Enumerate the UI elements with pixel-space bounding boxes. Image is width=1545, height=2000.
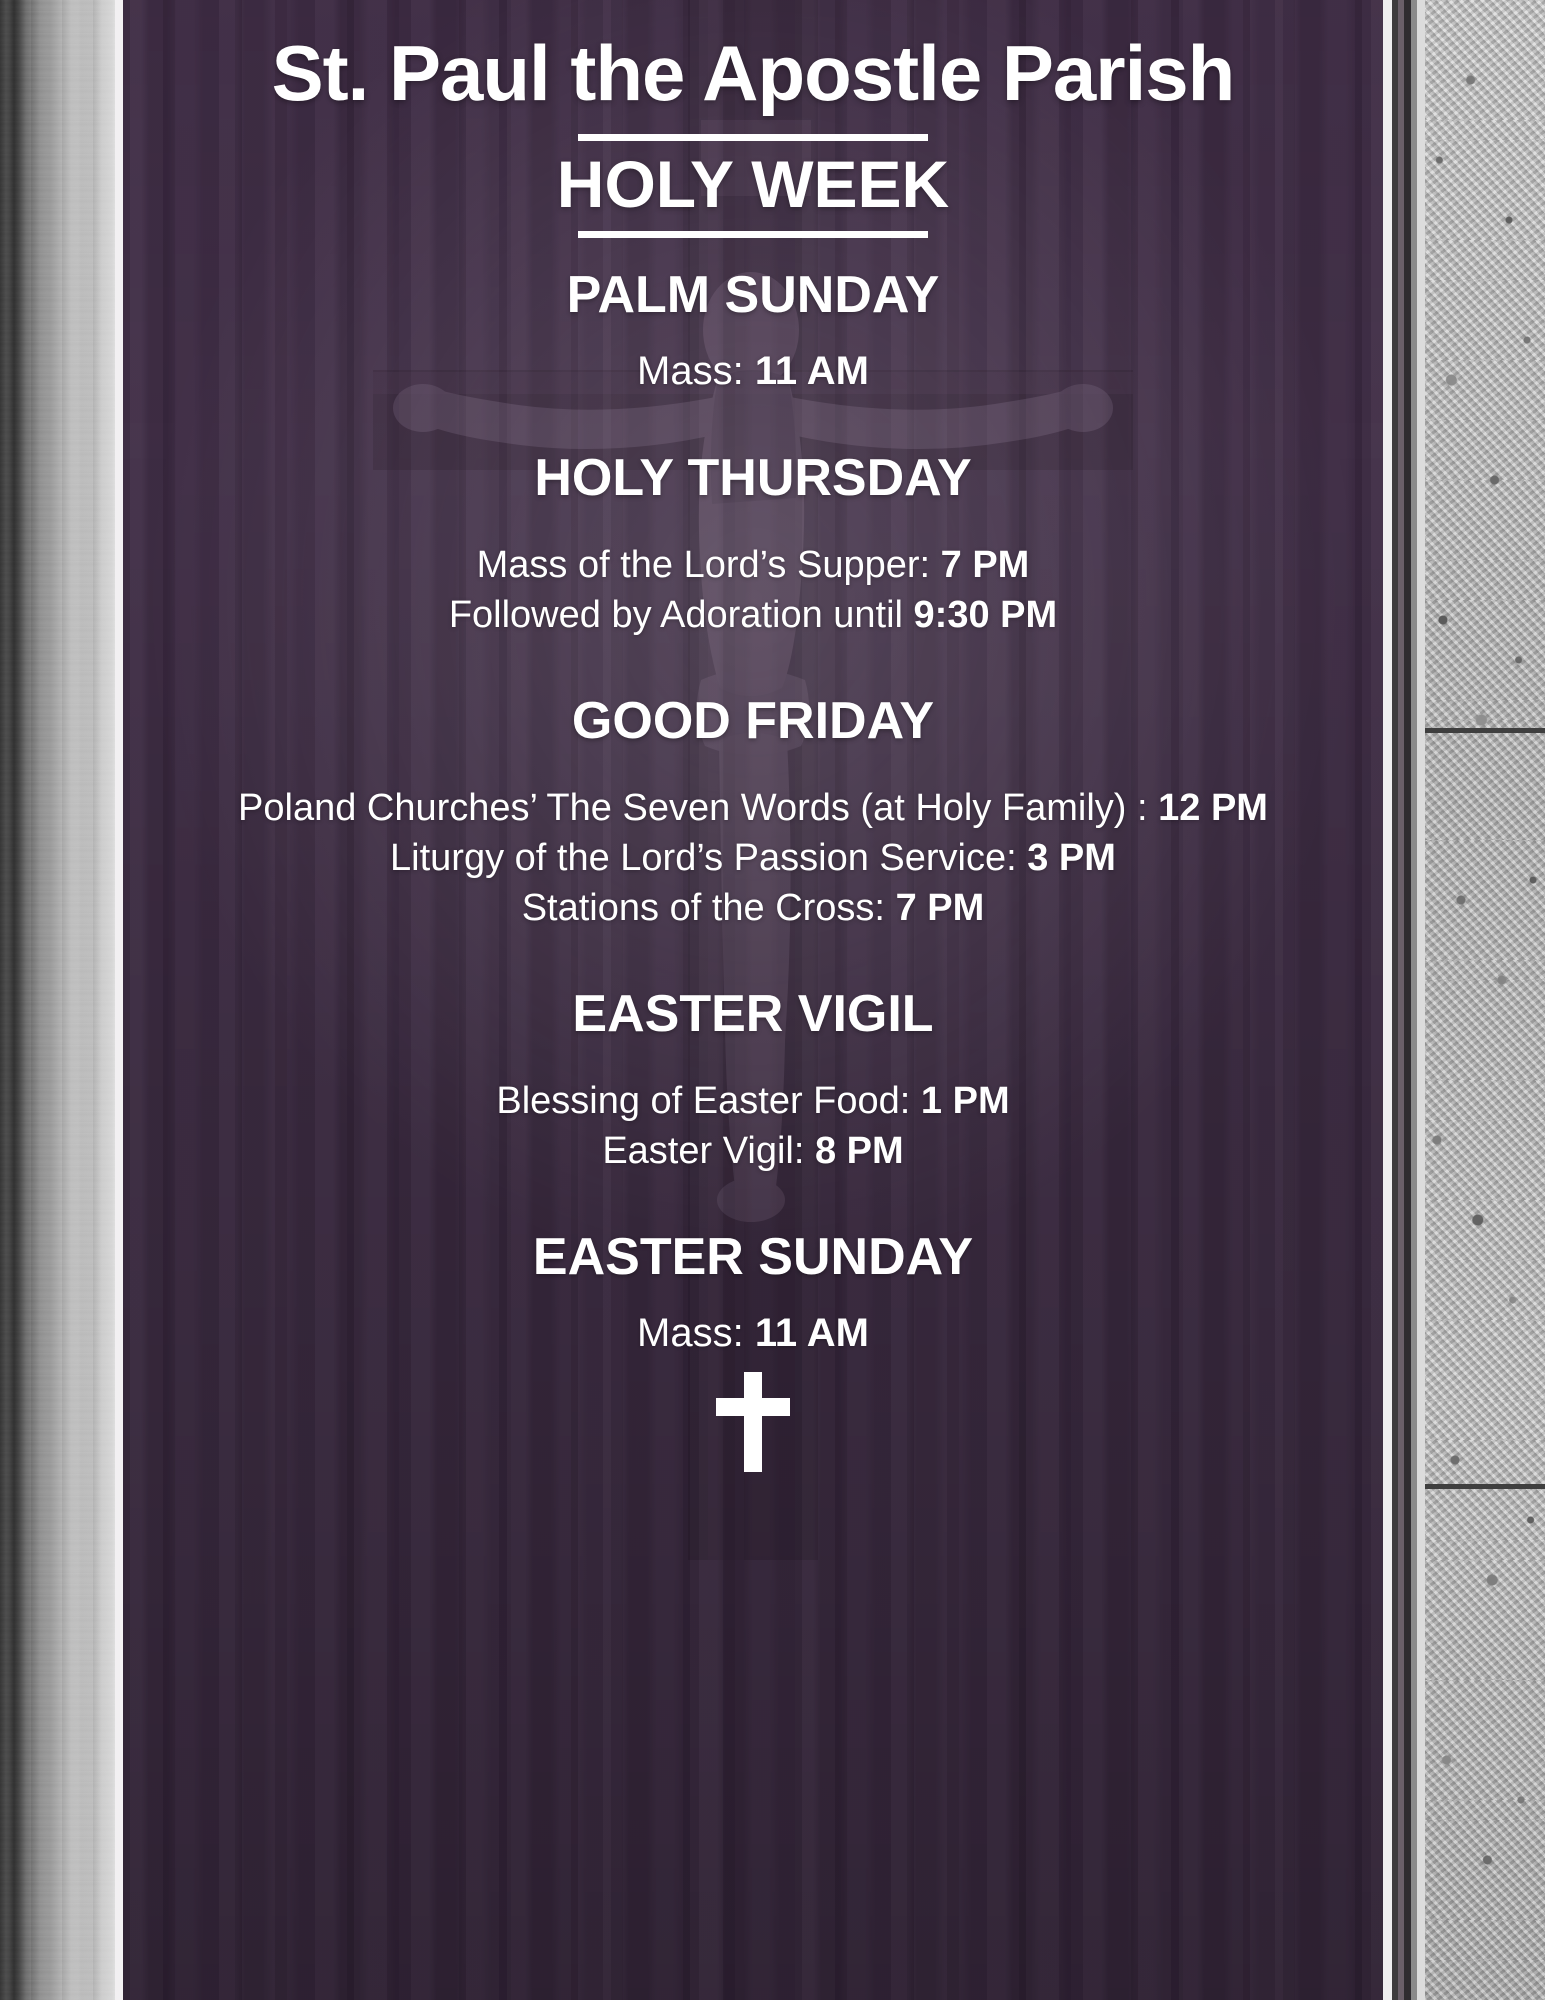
section-holy-thursday: HOLY THURSDAY Mass of the Lord’s Supper:… <box>449 451 1057 640</box>
schedule-time: 1 PM <box>921 1080 1010 1122</box>
section-heading: GOOD FRIDAY <box>572 694 934 749</box>
cross-horizontal-bar <box>716 1398 790 1416</box>
schedule-label: Stations of the Cross: <box>522 887 885 929</box>
parish-title: St. Paul the Apostle Parish <box>272 34 1235 112</box>
section-easter-vigil: EASTER VIGIL Blessing of Easter Food: 1 … <box>496 987 1009 1176</box>
section-good-friday: GOOD FRIDAY Poland Churches’ The Seven W… <box>238 694 1268 933</box>
holy-week-poster: St. Paul the Apostle Parish HOLY WEEK PA… <box>0 0 1545 2000</box>
schedule-label: Easter Vigil: <box>602 1130 804 1172</box>
schedule-line: Liturgy of the Lord’s Passion Service: 3… <box>390 833 1116 883</box>
schedule-time: 7 PM <box>896 887 985 929</box>
cross-wrapper <box>716 1372 790 1472</box>
schedule-line: Followed by Adoration until 9:30 PM <box>449 590 1057 640</box>
left-frame-strip <box>115 0 123 2000</box>
right-stone-texture <box>1425 0 1545 2000</box>
section-heading: EASTER VIGIL <box>572 987 933 1042</box>
schedule-time: 9:30 PM <box>914 594 1058 636</box>
stone-mortar-line <box>1425 1484 1545 1489</box>
section-easter-sunday: EASTER SUNDAY Mass: 11 AM <box>533 1230 973 1359</box>
poster-content: St. Paul the Apostle Parish HOLY WEEK PA… <box>123 0 1383 2000</box>
schedule-time: 3 PM <box>1027 837 1116 879</box>
section-palm-sunday: PALM SUNDAY Mass: 11 AM <box>567 268 940 397</box>
schedule-label: Liturgy of the Lord’s Passion Service: <box>390 837 1017 879</box>
section-heading: PALM SUNDAY <box>567 268 940 323</box>
schedule-label: Followed by Adoration until <box>449 594 903 636</box>
schedule-time: 11 AM <box>755 349 869 393</box>
divider-top <box>578 134 928 141</box>
schedule-label: Mass of the Lord’s Supper: <box>477 544 930 586</box>
left-stone-column <box>0 0 122 2000</box>
schedule-label: Blessing of Easter Food: <box>496 1080 910 1122</box>
left-stone-grain <box>0 0 122 2000</box>
schedule-line: Mass: 11 AM <box>637 1307 869 1360</box>
schedule-line: Mass: 11 AM <box>637 345 869 398</box>
schedule-line: Poland Churches’ The Seven Words (at Hol… <box>238 783 1268 833</box>
schedule-line: Stations of the Cross: 7 PM <box>522 883 985 933</box>
schedule-time: 11 AM <box>755 1311 869 1355</box>
divider-bottom <box>578 231 928 238</box>
schedule-label: Poland Churches’ The Seven Words (at Hol… <box>238 787 1148 829</box>
section-heading: HOLY THURSDAY <box>534 451 971 506</box>
right-frame-strip <box>1383 0 1425 2000</box>
latin-cross-icon <box>716 1372 790 1472</box>
cross-vertical-bar <box>744 1372 762 1472</box>
schedule-time: 12 PM <box>1158 787 1268 829</box>
poster-subtitle: HOLY WEEK <box>557 151 949 217</box>
section-heading: EASTER SUNDAY <box>533 1230 973 1285</box>
stone-mortar-line <box>1425 728 1545 733</box>
schedule-time: 8 PM <box>815 1130 904 1172</box>
schedule-line: Blessing of Easter Food: 1 PM <box>496 1076 1009 1126</box>
purple-door-panel: St. Paul the Apostle Parish HOLY WEEK PA… <box>123 0 1383 2000</box>
schedule-line: Easter Vigil: 8 PM <box>602 1126 903 1176</box>
right-stone-wall <box>1425 0 1545 2000</box>
schedule-label: Mass: <box>637 349 744 393</box>
schedule-time: 7 PM <box>941 544 1030 586</box>
schedule-line: Mass of the Lord’s Supper: 7 PM <box>477 540 1030 590</box>
schedule-label: Mass: <box>637 1311 744 1355</box>
